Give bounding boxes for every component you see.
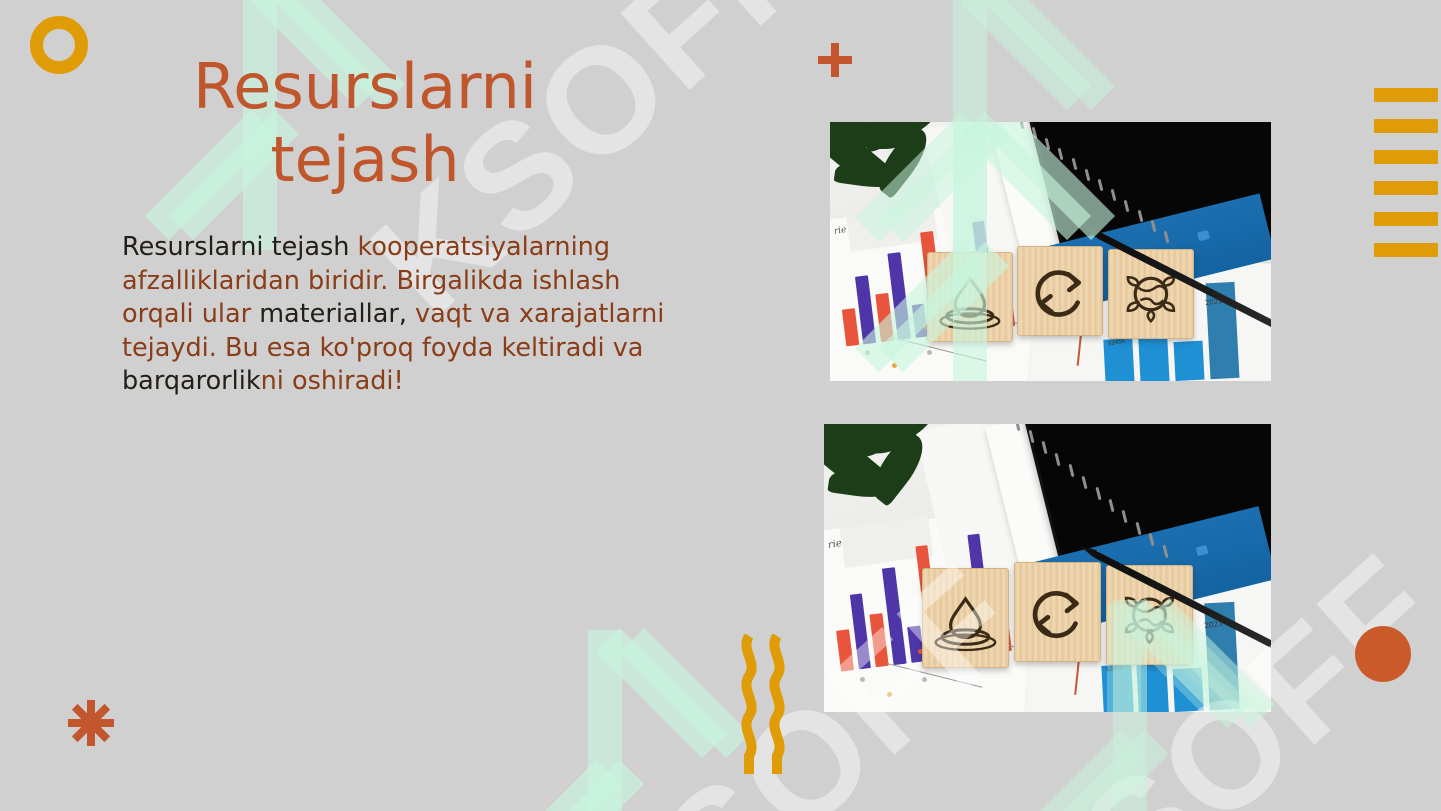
photo-scene: rie <box>830 122 1271 381</box>
wooden-block-water <box>927 252 1013 342</box>
plus-mark-icon <box>818 43 852 77</box>
stacked-bars-icon <box>1374 88 1438 256</box>
paper-text-label: rie <box>834 225 848 237</box>
slide-canvas: KSOFF KSOFF KSOFF Resurslarni tejash Res… <box>0 0 1441 811</box>
eco-blocks-photo-top: rie <box>830 122 1271 381</box>
watermark-k-mark-icon <box>560 630 710 811</box>
body-segment: barqarorlik <box>122 366 261 396</box>
body-segment: Resurslarni tejash <box>122 232 358 262</box>
slide-title: Resurslarni tejash <box>150 50 580 196</box>
slide-body-text: Resurslarni tejash kooperatsiyalarning a… <box>122 231 682 399</box>
recycle-icon <box>1015 563 1100 661</box>
recycle-icon <box>1018 247 1102 335</box>
wooden-block-recycle <box>1014 562 1101 662</box>
solid-circle-icon <box>1355 626 1411 682</box>
wooden-block-recycle <box>1017 246 1103 336</box>
water-drop-icon <box>928 253 1012 341</box>
body-segment: materiallar, <box>259 299 415 329</box>
asterisk-mark-icon <box>68 700 114 746</box>
eco-blocks-photo-bottom: rie <box>824 424 1271 712</box>
water-drop-icon <box>923 569 1008 667</box>
body-segment: ni oshiradi! <box>261 366 404 396</box>
gold-ring-icon <box>30 16 88 74</box>
wooden-block-water <box>922 568 1009 668</box>
photo-scene: rie <box>824 424 1271 712</box>
wavy-lines-icon <box>737 634 789 776</box>
